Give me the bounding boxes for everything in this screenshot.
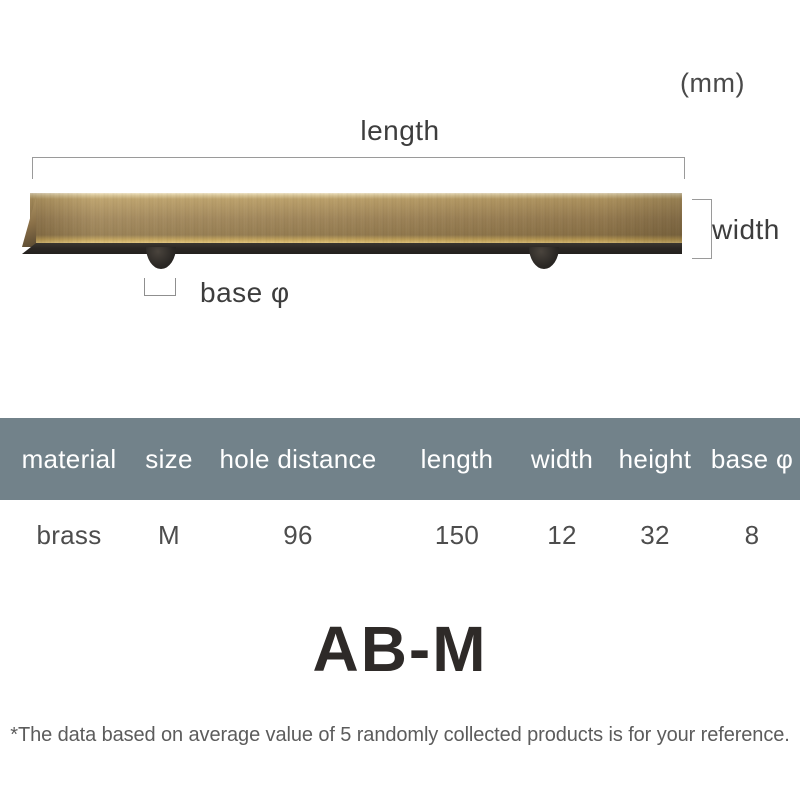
table-header-width: width xyxy=(518,418,606,500)
table-cell-material: brass xyxy=(0,500,138,570)
handle-mounting-boss-left xyxy=(146,247,176,269)
handle-mounting-boss-right xyxy=(529,247,559,269)
length-dimension-label: length xyxy=(0,115,800,147)
base-diameter-dimension-label: base φ xyxy=(200,277,290,309)
handle-left-end-chamfer xyxy=(22,197,36,247)
table-cell-hole-distance: 96 xyxy=(200,500,396,570)
table-cell-length: 150 xyxy=(396,500,518,570)
footnote-disclaimer: *The data based on average value of 5 ra… xyxy=(0,724,800,747)
table-header-height: height xyxy=(606,418,704,500)
table-header-length: length xyxy=(396,418,518,500)
table-header-base-diameter: base φ xyxy=(704,418,800,500)
unit-label: (mm) xyxy=(680,68,745,99)
length-dimension-bracket xyxy=(32,157,685,179)
handle-dark-base-strip xyxy=(22,243,682,254)
table-header-hole-distance: hole distance xyxy=(200,418,396,500)
base-diameter-dimension-bracket xyxy=(144,278,176,296)
table-cell-base-diameter: 8 xyxy=(704,500,800,570)
model-name: AB-M xyxy=(0,612,800,686)
table-header-row: material size hole distance length width… xyxy=(0,418,800,500)
width-dimension-label: width xyxy=(712,214,780,246)
product-image-handle xyxy=(22,193,682,256)
specification-table: material size hole distance length width… xyxy=(0,418,800,570)
table-cell-size: M xyxy=(138,500,200,570)
table-cell-height: 32 xyxy=(606,500,704,570)
width-dimension-bracket xyxy=(692,199,712,259)
handle-brass-bar xyxy=(30,193,682,245)
table-header-material: material xyxy=(0,418,138,500)
table-header-size: size xyxy=(138,418,200,500)
table-cell-width: 12 xyxy=(518,500,606,570)
table-row: brass M 96 150 12 32 8 xyxy=(0,500,800,570)
